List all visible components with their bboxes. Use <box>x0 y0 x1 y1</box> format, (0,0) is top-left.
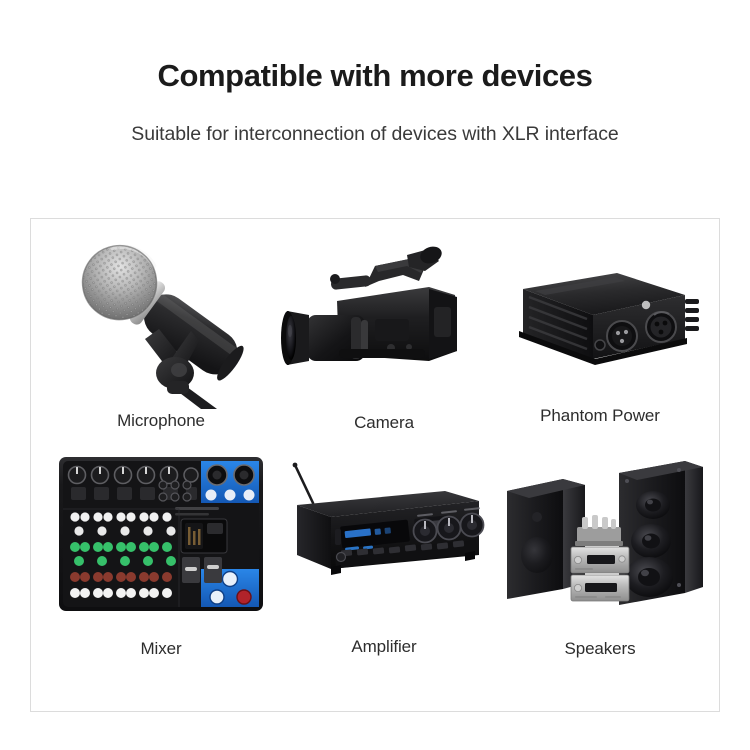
microphone-image <box>41 219 281 409</box>
device-label-mixer: Mixer <box>41 639 281 659</box>
promo-page: Compatible with more devices Suitable fo… <box>0 0 750 750</box>
page-subtitle: Suitable for interconnection of devices … <box>0 122 750 147</box>
device-label-phantom-power: Phantom Power <box>489 406 711 426</box>
amplifier-image <box>279 443 489 633</box>
device-grid: Microphone <box>31 219 719 711</box>
mixer-image <box>41 443 281 633</box>
device-compatibility-card: Microphone <box>30 218 720 712</box>
device-label-microphone: Microphone <box>41 411 281 431</box>
speakers-image <box>489 443 711 633</box>
page-title: Compatible with more devices <box>0 57 750 96</box>
device-label-speakers: Speakers <box>489 639 711 659</box>
device-label-amplifier: Amplifier <box>279 637 489 657</box>
device-label-camera: Camera <box>279 413 489 433</box>
camera-image <box>279 219 489 409</box>
phantom-power-image <box>489 219 711 409</box>
